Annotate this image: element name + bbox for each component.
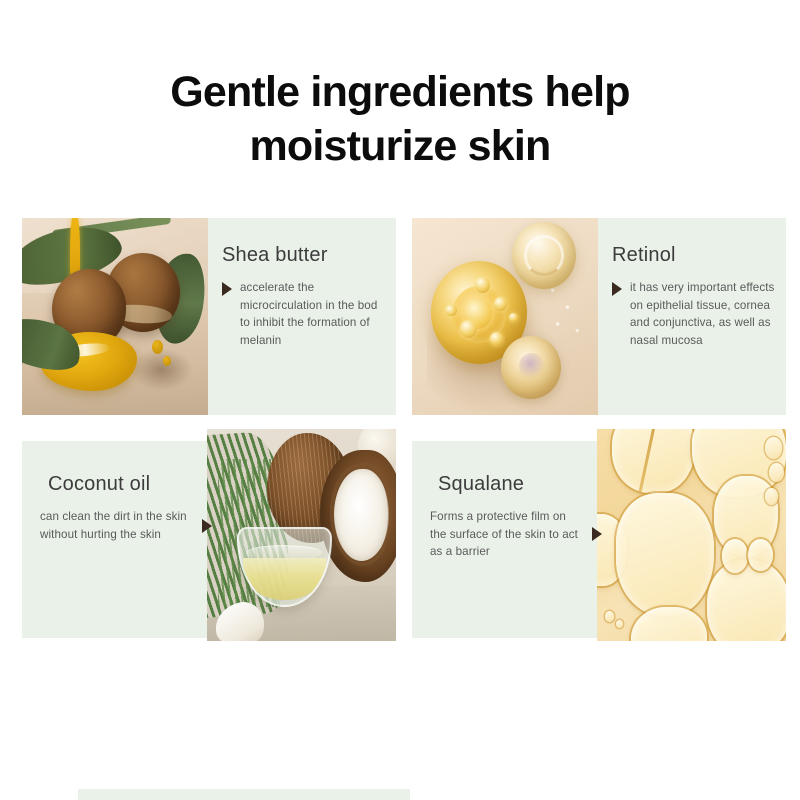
card-body: accelerate the microcirculation in the b…: [240, 279, 390, 349]
card-body: it has very important effects on epithel…: [630, 279, 780, 349]
card-body: can clean the dirt in the skin without h…: [40, 508, 188, 543]
page-title: Gentle ingredients help moisturize skin: [0, 66, 800, 174]
squalane-photo: [597, 429, 786, 641]
card-bullet-row: can clean the dirt in the skin without h…: [40, 508, 212, 543]
retinol-text: Retinol it has very important effects on…: [612, 244, 780, 349]
card-title: Coconut oil: [48, 473, 212, 495]
card-title: Shea butter: [222, 244, 390, 266]
card-row-2: Coconut oil can clean the dirt in the sk…: [22, 441, 786, 641]
card-title: Squalane: [438, 473, 602, 495]
card-bullet-row: it has very important effects on epithel…: [612, 279, 780, 349]
card-bullet-row: Forms a protective film on the surface o…: [430, 508, 602, 561]
coconut-oil-photo: [207, 429, 396, 641]
ingredient-card-shea-butter[interactable]: Shea butter accelerate the microcirculat…: [22, 218, 396, 415]
right-triangle-icon: [612, 282, 622, 296]
ingredient-card-squalane[interactable]: Squalane Forms a protective film on the …: [412, 441, 786, 638]
card-bullet-row: accelerate the microcirculation in the b…: [222, 279, 390, 349]
next-section-mint-panel: [78, 789, 410, 800]
retinol-photo: [412, 218, 598, 415]
next-section-photo-strip: [410, 789, 780, 800]
shea-butter-photo: [22, 218, 208, 415]
card-row-1: Shea butter accelerate the microcirculat…: [22, 218, 786, 415]
card-body: Forms a protective film on the surface o…: [430, 508, 578, 561]
ingredient-card-retinol[interactable]: Retinol it has very important effects on…: [412, 218, 786, 415]
infographic-page: Gentle ingredients help moisturize skin: [0, 0, 800, 800]
page-title-line-2: moisturize skin: [0, 120, 800, 174]
right-triangle-icon: [202, 519, 212, 533]
ingredient-card-grid: Shea butter accelerate the microcirculat…: [22, 218, 786, 641]
ingredient-card-coconut-oil[interactable]: Coconut oil can clean the dirt in the sk…: [22, 441, 396, 638]
coconut-oil-text: Coconut oil can clean the dirt in the sk…: [40, 473, 212, 543]
card-title: Retinol: [612, 244, 780, 266]
squalane-text: Squalane Forms a protective film on the …: [430, 473, 602, 561]
right-triangle-icon: [222, 282, 232, 296]
shea-butter-text: Shea butter accelerate the microcirculat…: [222, 244, 390, 349]
right-triangle-icon: [592, 527, 602, 541]
page-title-line-1: Gentle ingredients help: [0, 66, 800, 120]
next-section-peek: [0, 789, 800, 800]
